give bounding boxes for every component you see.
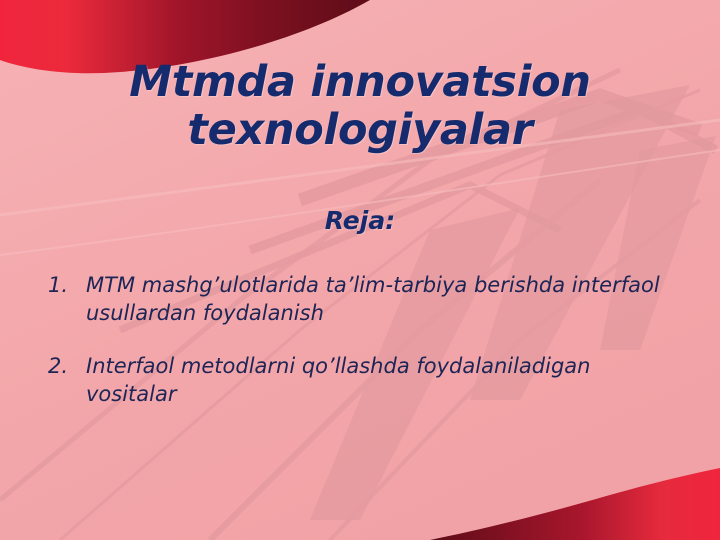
section-heading: Reja: bbox=[40, 206, 680, 235]
list-item-number: 1. bbox=[48, 272, 86, 300]
page-title: Mtmda innovatsion texnologiyalar bbox=[40, 58, 680, 154]
list-item: 2. Interfaol metodlarni qo’llashda foyda… bbox=[48, 353, 684, 408]
list-item: 1. MTM mashg’ulotlarida ta’lim-tarbiya b… bbox=[48, 272, 684, 327]
list-item-text: Interfaol metodlarni qo’llashda foydalan… bbox=[86, 353, 684, 408]
slide-canvas: Mtmda innovatsion texnologiyalar Reja: 1… bbox=[0, 0, 720, 540]
list-item-text: MTM mashg’ulotlarida ta’lim-tarbiya beri… bbox=[86, 272, 684, 327]
agenda-list: 1. MTM mashg’ulotlarida ta’lim-tarbiya b… bbox=[48, 272, 684, 435]
list-item-number: 2. bbox=[48, 353, 86, 381]
